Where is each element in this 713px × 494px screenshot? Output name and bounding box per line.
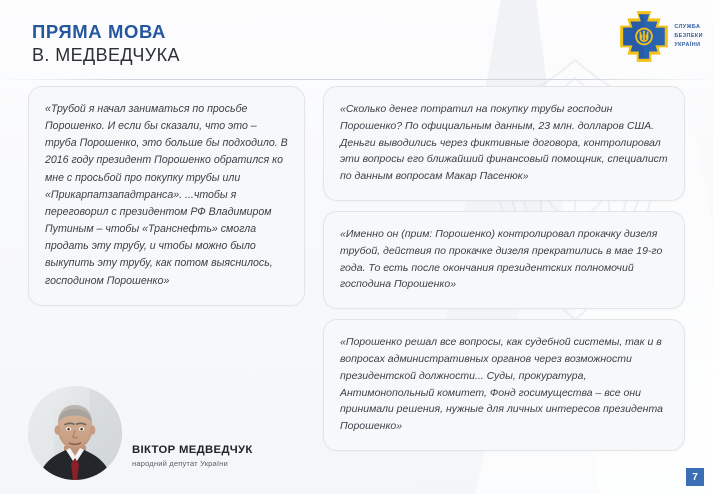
quote-card: «Именно он (прим: Порошенко) контролиров… xyxy=(323,211,685,309)
quote-column-left: «Трубой я начал заниматься по просьбе По… xyxy=(28,86,305,306)
speaker-info: ВІКТОР МЕДВЕДЧУК народний депутат Україн… xyxy=(122,444,253,480)
quote-card: «Порошенко решал все вопросы, как судебн… xyxy=(323,319,685,451)
sbu-logo-line-2: БЕЗПЕКИ xyxy=(674,32,703,41)
slide-header: ПРЯМА МОВА В. МЕДВЕДЧУКА xyxy=(0,0,713,80)
slide-root: ПРЯМА МОВА В. МЕДВЕДЧУКА xyxy=(0,0,713,494)
speaker-block: ВІКТОР МЕДВЕДЧУК народний депутат Україн… xyxy=(28,374,308,480)
speaker-name: ВІКТОР МЕДВЕДЧУК xyxy=(132,444,253,456)
trident-icon xyxy=(640,31,649,42)
sbu-cross-icon xyxy=(618,9,670,64)
quote-text: «Порошенко решал все вопросы, как судебн… xyxy=(340,334,668,435)
quote-text: «Трубой я начал заниматься по просьбе По… xyxy=(45,101,288,290)
avatar xyxy=(28,386,122,480)
quote-column-right: «Сколько денег потратил на покупку трубы… xyxy=(323,86,685,451)
page-title: ПРЯМА МОВА В. МЕДВЕДЧУКА xyxy=(32,22,180,66)
page-number-badge: 7 xyxy=(686,468,704,486)
page-title-main: ПРЯМА МОВА xyxy=(32,22,180,43)
quote-card: «Сколько денег потратил на покупку трубы… xyxy=(323,86,685,201)
sbu-logo-text: СЛУЖБА БЕЗПЕКИ УКРАЇНИ xyxy=(674,23,703,50)
speaker-portrait-image xyxy=(28,386,122,480)
sbu-logo-line-3: УКРАЇНИ xyxy=(674,41,703,50)
speaker-role: народний депутат України xyxy=(132,459,253,468)
page-title-sub: В. МЕДВЕДЧУКА xyxy=(32,45,180,67)
quote-text: «Именно он (прим: Порошенко) контролиров… xyxy=(340,226,668,293)
sbu-logo-line-1: СЛУЖБА xyxy=(674,23,703,32)
quote-card: «Трубой я начал заниматься по просьбе По… xyxy=(28,86,305,306)
quote-text: «Сколько денег потратил на покупку трубы… xyxy=(340,101,668,185)
sbu-logo-lockup: СЛУЖБА БЕЗПЕКИ УКРАЇНИ xyxy=(618,9,703,64)
